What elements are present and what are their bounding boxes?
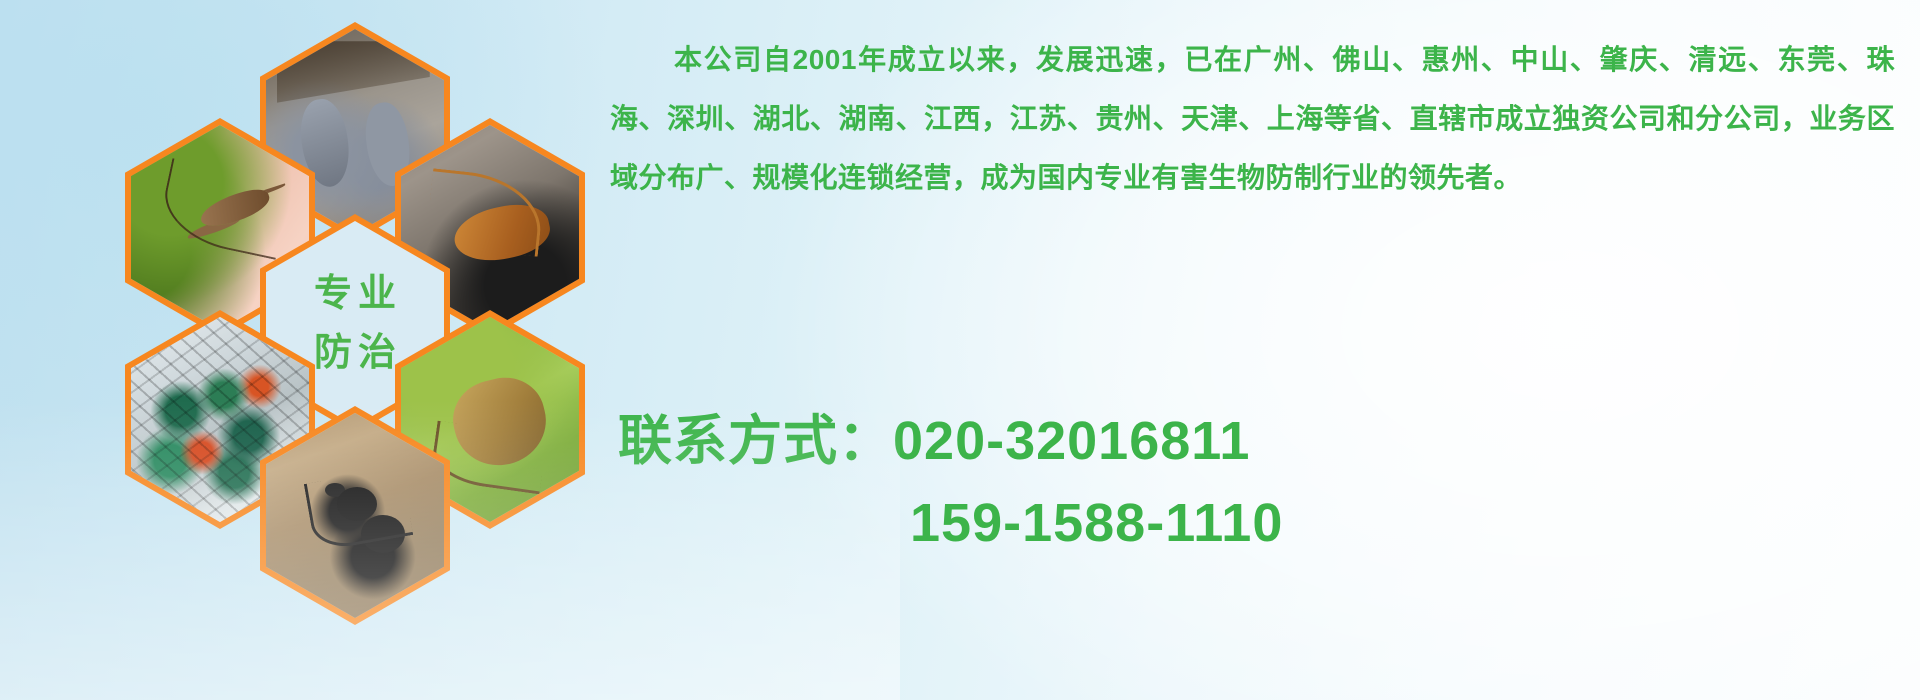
slogan-line-1: 专业 — [308, 265, 402, 324]
honeycomb-image-cluster: 专业 防治 — [90, 8, 590, 568]
contact-secondary-phone: 159-1588-1110 — [618, 482, 1918, 564]
promo-banner: 专业 防治 本公司自2001年成立以来，发展迅速，已在广州、佛山、惠州、中山、肇… — [0, 0, 1920, 700]
company-intro-paragraph: 本公司自2001年成立以来，发展迅速，已在广州、佛山、惠州、中山、肇庆、清远、东… — [610, 30, 1895, 207]
slogan-line-2: 防治 — [308, 324, 402, 383]
contact-primary-phone: 联系方式：020-32016811 — [618, 400, 1918, 482]
ant-photo — [266, 413, 444, 618]
intro-block: 本公司自2001年成立以来，发展迅速，已在广州、佛山、惠州、中山、肇庆、清远、东… — [610, 30, 1900, 207]
contact-block: 联系方式：020-32016811 159-1588-1110 — [618, 400, 1918, 564]
